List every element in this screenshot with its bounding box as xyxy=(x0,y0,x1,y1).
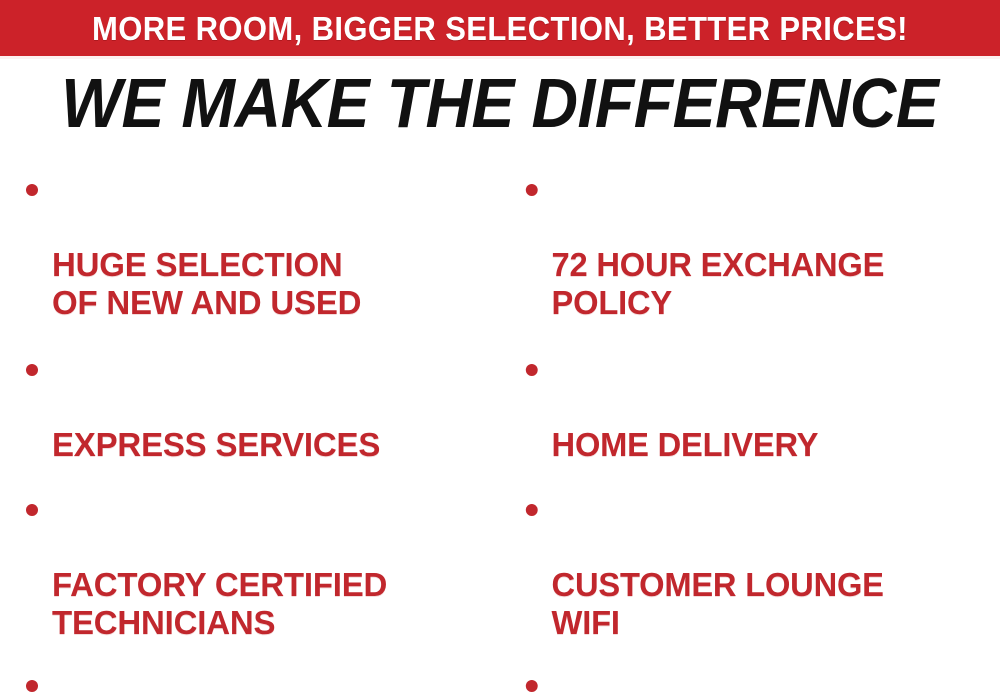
dot-bullet-icon xyxy=(526,364,538,376)
dot-bullet-icon xyxy=(26,504,38,516)
dealership-benefits-poster: MORE ROOM, BIGGER SELECTION, BETTER PRIC… xyxy=(0,0,1000,694)
banner-underline-divider xyxy=(0,56,1000,59)
list-item: HOME DELIVERY xyxy=(508,350,995,464)
list-item-label: 72 HOUR EXCHANGE POLICY xyxy=(552,246,885,321)
list-item: COMPLIMENTARY LOANER CARS xyxy=(8,666,500,694)
list-item: 72 HOUR EXCHANGE POLICY xyxy=(508,170,995,322)
list-item: MILITARY DISCOUNTS xyxy=(508,666,995,694)
list-item-label: CUSTOMER LOUNGE WIFI xyxy=(552,566,884,641)
benefits-column-left: HUGE SELECTION OF NEW AND USED EXPRESS S… xyxy=(8,158,500,694)
banner-headline-text: MORE ROOM, BIGGER SELECTION, BETTER PRIC… xyxy=(92,12,908,45)
dot-bullet-icon xyxy=(526,184,538,196)
list-item-label: EXPRESS SERVICES xyxy=(52,426,380,463)
dot-bullet-icon xyxy=(526,680,538,692)
dot-bullet-icon xyxy=(26,364,38,376)
benefits-list-right: 72 HOUR EXCHANGE POLICY HOME DELIVERY CU… xyxy=(508,170,1000,694)
list-item-label: HOME DELIVERY xyxy=(552,426,819,463)
headline-container: WE MAKE THE DIFFERENCE xyxy=(0,66,1000,140)
list-item: FACTORY CERTIFIED TECHNICIANS xyxy=(8,490,500,642)
list-item-label: FACTORY CERTIFIED TECHNICIANS xyxy=(52,566,387,641)
dot-bullet-icon xyxy=(26,184,38,196)
list-item-label: HUGE SELECTION OF NEW AND USED xyxy=(52,246,361,321)
benefits-list-left: HUGE SELECTION OF NEW AND USED EXPRESS S… xyxy=(8,170,500,694)
page-title: WE MAKE THE DIFFERENCE xyxy=(61,68,938,138)
dot-bullet-icon xyxy=(526,504,538,516)
dot-bullet-icon xyxy=(26,680,38,692)
benefits-columns: HUGE SELECTION OF NEW AND USED EXPRESS S… xyxy=(0,158,1000,694)
list-item: EXPRESS SERVICES xyxy=(8,350,500,464)
top-banner: MORE ROOM, BIGGER SELECTION, BETTER PRIC… xyxy=(0,0,1000,56)
list-item: CUSTOMER LOUNGE WIFI xyxy=(508,490,995,642)
benefits-column-right: 72 HOUR EXCHANGE POLICY HOME DELIVERY CU… xyxy=(508,158,1000,694)
list-item: HUGE SELECTION OF NEW AND USED xyxy=(8,170,500,322)
